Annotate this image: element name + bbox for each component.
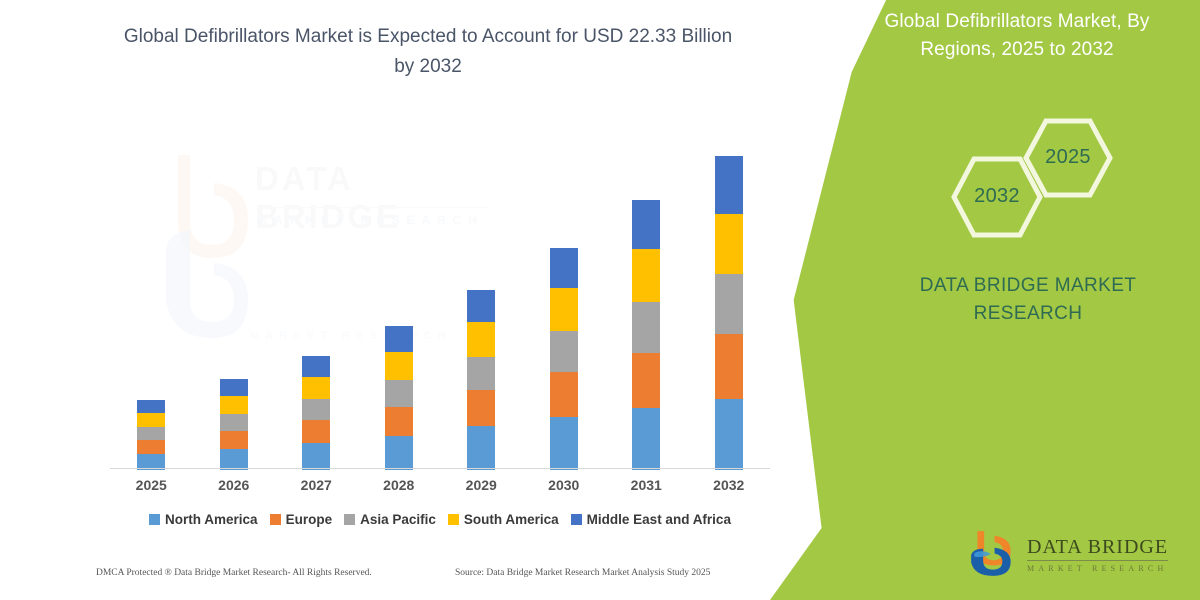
bar-2028 <box>385 326 413 470</box>
infographic-root: Global Defibrillators Market is Expected… <box>0 0 1200 600</box>
bar-segment-asia-pacific <box>302 399 330 420</box>
bar-segment-north-america <box>302 443 330 470</box>
logo-text: DATA BRIDGE MARKET RESEARCH <box>1027 536 1168 573</box>
bar-segment-south-america <box>715 214 743 274</box>
hexagon-group: 2032 2025 <box>935 118 1115 238</box>
panel-title: Global Defibrillators Market, By Regions… <box>852 8 1182 64</box>
footer-copyright: DMCA Protected ® Data Bridge Market Rese… <box>96 568 372 578</box>
bar-segment-asia-pacific <box>220 414 248 431</box>
panel-brand: DATA BRIDGE MARKET RESEARCH <box>878 272 1178 328</box>
bar-segment-asia-pacific <box>385 380 413 407</box>
bar-segment-europe <box>467 390 495 426</box>
bar-segment-middle-east-and-africa <box>302 356 330 377</box>
bar-segment-south-america <box>467 322 495 357</box>
bar-segment-north-america <box>385 436 413 470</box>
bar-2030 <box>550 248 578 470</box>
bar-2029 <box>467 290 495 470</box>
bar-segment-europe <box>137 440 165 454</box>
page-title: Global Defibrillators Market is Expected… <box>118 22 738 82</box>
x-axis-line <box>110 468 770 469</box>
bar-segment-south-america <box>385 352 413 380</box>
x-label-2028: 2028 <box>361 477 437 493</box>
bar-segment-europe <box>302 420 330 443</box>
x-label-2031: 2031 <box>608 477 684 493</box>
bar-segment-middle-east-and-africa <box>137 400 165 413</box>
logo-sub: MARKET RESEARCH <box>1027 564 1168 573</box>
bar-segment-middle-east-and-africa <box>220 379 248 396</box>
data-bridge-logo: DATA BRIDGE MARKET RESEARCH <box>967 526 1182 582</box>
bar-segment-north-america <box>550 417 578 470</box>
x-label-2030: 2030 <box>526 477 602 493</box>
bar-2032 <box>715 156 743 470</box>
x-label-2032: 2032 <box>691 477 767 493</box>
bar-segment-asia-pacific <box>467 357 495 390</box>
legend-item-asia-pacific[interactable]: Asia Pacific <box>344 512 436 527</box>
bar-segment-middle-east-and-africa <box>385 326 413 352</box>
footer-source: Source: Data Bridge Market Research Mark… <box>455 568 710 578</box>
bar-segment-europe <box>715 334 743 399</box>
bar-segment-asia-pacific <box>715 274 743 334</box>
legend-item-north-america[interactable]: North America <box>149 512 258 527</box>
legend-swatch-icon <box>448 514 459 525</box>
bar-segment-middle-east-and-africa <box>467 290 495 322</box>
legend-swatch-icon <box>270 514 281 525</box>
bar-segment-south-america <box>550 288 578 331</box>
bar-segment-europe <box>220 431 248 449</box>
bar-segment-europe <box>385 407 413 436</box>
legend-swatch-icon <box>344 514 355 525</box>
bar-2027 <box>302 356 330 470</box>
bar-segment-north-america <box>220 449 248 470</box>
legend-item-middle-east-and-africa[interactable]: Middle East and Africa <box>571 512 731 527</box>
bar-2025 <box>137 400 165 470</box>
b-logo-icon <box>967 528 1019 580</box>
bar-segment-asia-pacific <box>137 427 165 440</box>
bar-segment-middle-east-and-africa <box>715 156 743 214</box>
bar-segment-middle-east-and-africa <box>550 248 578 288</box>
bar-segment-south-america <box>137 413 165 427</box>
legend-swatch-icon <box>149 514 160 525</box>
x-label-2025: 2025 <box>113 477 189 493</box>
hexagon-2025: 2025 <box>1023 118 1113 198</box>
bar-segment-europe <box>632 353 660 408</box>
bar-segment-south-america <box>220 396 248 414</box>
logo-name: DATA BRIDGE <box>1027 536 1168 559</box>
hexagon-2025-label: 2025 <box>1023 146 1113 169</box>
legend-item-europe[interactable]: Europe <box>270 512 333 527</box>
bar-segment-south-america <box>632 249 660 302</box>
legend-item-south-america[interactable]: South America <box>448 512 559 527</box>
bar-segment-asia-pacific <box>632 302 660 353</box>
x-label-2029: 2029 <box>443 477 519 493</box>
stacked-bar-chart <box>110 140 770 470</box>
legend-label: North America <box>165 512 258 527</box>
bar-segment-europe <box>550 372 578 417</box>
bar-segment-north-america <box>632 408 660 470</box>
legend-label: Middle East and Africa <box>587 512 731 527</box>
bar-segment-middle-east-and-africa <box>632 200 660 249</box>
chart-legend: North AmericaEuropeAsia PacificSouth Ame… <box>110 512 770 527</box>
x-label-2026: 2026 <box>196 477 272 493</box>
bar-2026 <box>220 379 248 470</box>
bar-segment-asia-pacific <box>550 331 578 372</box>
logo-rule <box>1027 560 1168 561</box>
bar-segment-north-america <box>715 399 743 470</box>
bar-2031 <box>632 200 660 470</box>
bar-segment-north-america <box>467 426 495 470</box>
legend-label: Asia Pacific <box>360 512 436 527</box>
legend-label: South America <box>464 512 559 527</box>
x-axis-labels: 20252026202720282029203020312032 <box>110 477 770 499</box>
legend-label: Europe <box>286 512 333 527</box>
legend-swatch-icon <box>571 514 582 525</box>
bar-segment-south-america <box>302 377 330 399</box>
x-label-2027: 2027 <box>278 477 354 493</box>
